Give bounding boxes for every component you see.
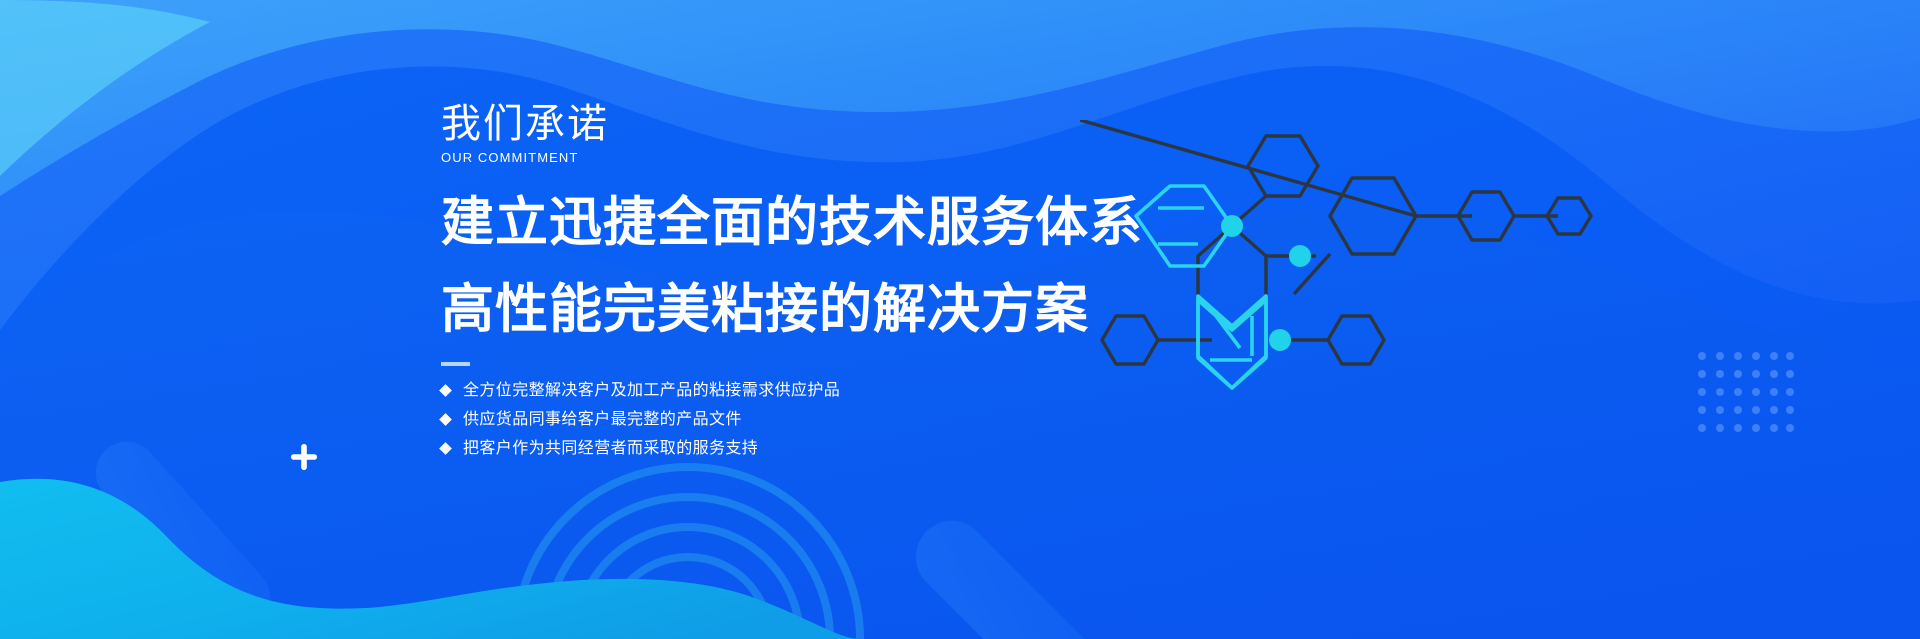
list-item-label: 供应货品同事给客户最完整的产品文件 [463,411,742,428]
plus-icon [291,444,317,470]
headline-divider [441,362,470,366]
list-item: 供应货品同事给客户最完整的产品文件 [441,411,1341,428]
commitment-list: 全方位完整解决客户及加工产品的粘接需求供应护品 供应货品同事给客户最完整的产品文… [441,382,1341,457]
headline-line-1: 建立迅捷全面的技术服务体系 [441,192,1341,253]
diamond-bullet-icon [439,442,452,455]
diamond-bullet-icon [439,413,452,426]
promotional-banner: 我们承诺 OUR COMMITMENT 建立迅捷全面的技术服务体系 高性能完美粘… [0,0,1920,639]
banner-content: 我们承诺 OUR COMMITMENT 建立迅捷全面的技术服务体系 高性能完美粘… [441,100,1341,469]
eyebrow-title-en: OUR COMMITMENT [441,150,1341,166]
list-item-label: 全方位完整解决客户及加工产品的粘接需求供应护品 [463,382,840,399]
list-item-label: 把客户作为共同经营者而采取的服务支持 [463,440,758,457]
dot-grid-pattern [1696,350,1794,436]
list-item: 全方位完整解决客户及加工产品的粘接需求供应护品 [441,382,1341,399]
list-item: 把客户作为共同经营者而采取的服务支持 [441,440,1341,457]
diamond-bullet-icon [439,384,452,397]
eyebrow-title-cn: 我们承诺 [441,100,1341,148]
headline-line-2: 高性能完美粘接的解决方案 [441,279,1341,340]
